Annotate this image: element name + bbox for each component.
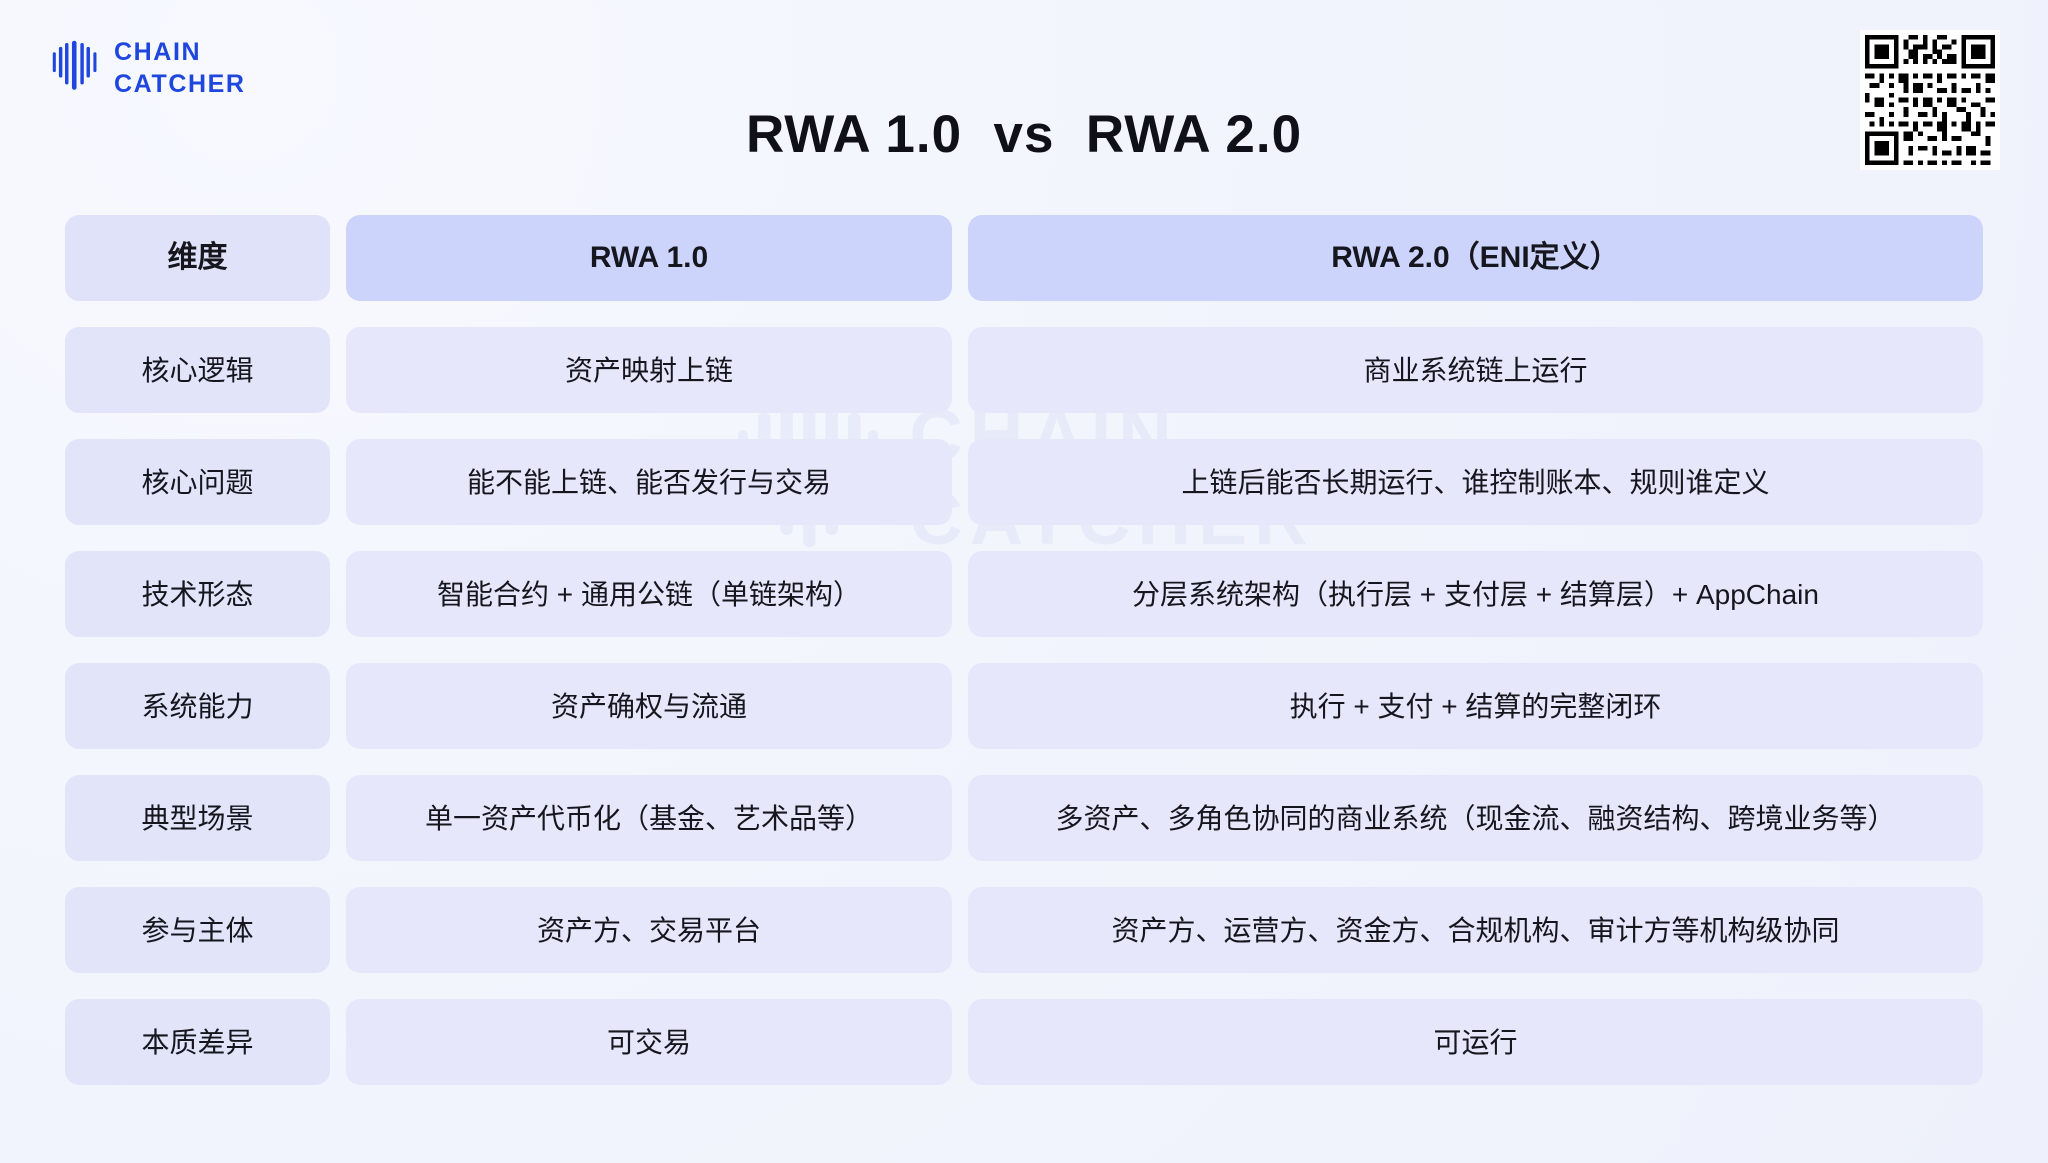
cell-rwa1: 资产映射上链 [346, 327, 952, 413]
cell-rwa2: 上链后能否长期运行、谁控制账本、规则谁定义 [968, 439, 1983, 525]
cell-rwa1: 可交易 [346, 999, 952, 1085]
table-row: 技术形态 智能合约 + 通用公链（单链架构） 分层系统架构（执行层 + 支付层 … [65, 551, 1983, 637]
cell-rwa1: 单一资产代币化（基金、艺术品等） [346, 775, 952, 861]
brand-logo-block: CHAIN CATCHER [52, 36, 246, 100]
table-row: 参与主体 资产方、交易平台 资产方、运营方、资金方、合规机构、审计方等机构级协同 [65, 887, 1983, 973]
table-row: 系统能力 资产确权与流通 执行 + 支付 + 结算的完整闭环 [65, 663, 1983, 749]
cell-dimension: 技术形态 [65, 551, 330, 637]
cell-rwa2: 资产方、运营方、资金方、合规机构、审计方等机构级协同 [968, 887, 1983, 973]
cell-dimension: 典型场景 [65, 775, 330, 861]
header-cell-dimension: 维度 [65, 215, 330, 301]
cell-rwa2: 商业系统链上运行 [968, 327, 1983, 413]
top-bar: CHAIN CATCHER RWA 1.0 vs RWA 2.0 [0, 0, 2048, 190]
header-cell-rwa1: RWA 1.0 [346, 215, 952, 301]
header-cell-rwa2: RWA 2.0（ENI定义） [968, 215, 1983, 301]
chaincatcher-shield-icon [52, 37, 98, 100]
table-row: 典型场景 单一资产代币化（基金、艺术品等） 多资产、多角色协同的商业系统（现金流… [65, 775, 1983, 861]
cell-rwa1: 资产确权与流通 [346, 663, 952, 749]
brand-name-line-2: CATCHER [114, 68, 246, 100]
cell-rwa2: 分层系统架构（执行层 + 支付层 + 结算层）+ AppChain [968, 551, 1983, 637]
cell-rwa2: 多资产、多角色协同的商业系统（现金流、融资结构、跨境业务等） [968, 775, 1983, 861]
comparison-table: 维度 RWA 1.0 RWA 2.0（ENI定义） 核心逻辑 资产映射上链 商业… [65, 215, 1983, 1085]
table-row: 核心逻辑 资产映射上链 商业系统链上运行 [65, 327, 1983, 413]
page-title: RWA 1.0 vs RWA 2.0 [0, 104, 2048, 165]
cell-rwa1: 智能合约 + 通用公链（单链架构） [346, 551, 952, 637]
cell-dimension: 核心问题 [65, 439, 330, 525]
table-row: 本质差异 可交易 可运行 [65, 999, 1983, 1085]
table-row: 核心问题 能不能上链、能否发行与交易 上链后能否长期运行、谁控制账本、规则谁定义 [65, 439, 1983, 525]
brand-name-line-1: CHAIN [114, 36, 246, 68]
cell-rwa1: 资产方、交易平台 [346, 887, 952, 973]
cell-rwa2: 执行 + 支付 + 结算的完整闭环 [968, 663, 1983, 749]
table-header-row: 维度 RWA 1.0 RWA 2.0（ENI定义） [65, 215, 1983, 301]
cell-dimension: 系统能力 [65, 663, 330, 749]
cell-dimension: 参与主体 [65, 887, 330, 973]
cell-rwa2: 可运行 [968, 999, 1983, 1085]
qr-code-icon[interactable] [1860, 30, 2000, 170]
cell-dimension: 核心逻辑 [65, 327, 330, 413]
cell-rwa1: 能不能上链、能否发行与交易 [346, 439, 952, 525]
cell-dimension: 本质差异 [65, 999, 330, 1085]
brand-name: CHAIN CATCHER [114, 36, 246, 100]
